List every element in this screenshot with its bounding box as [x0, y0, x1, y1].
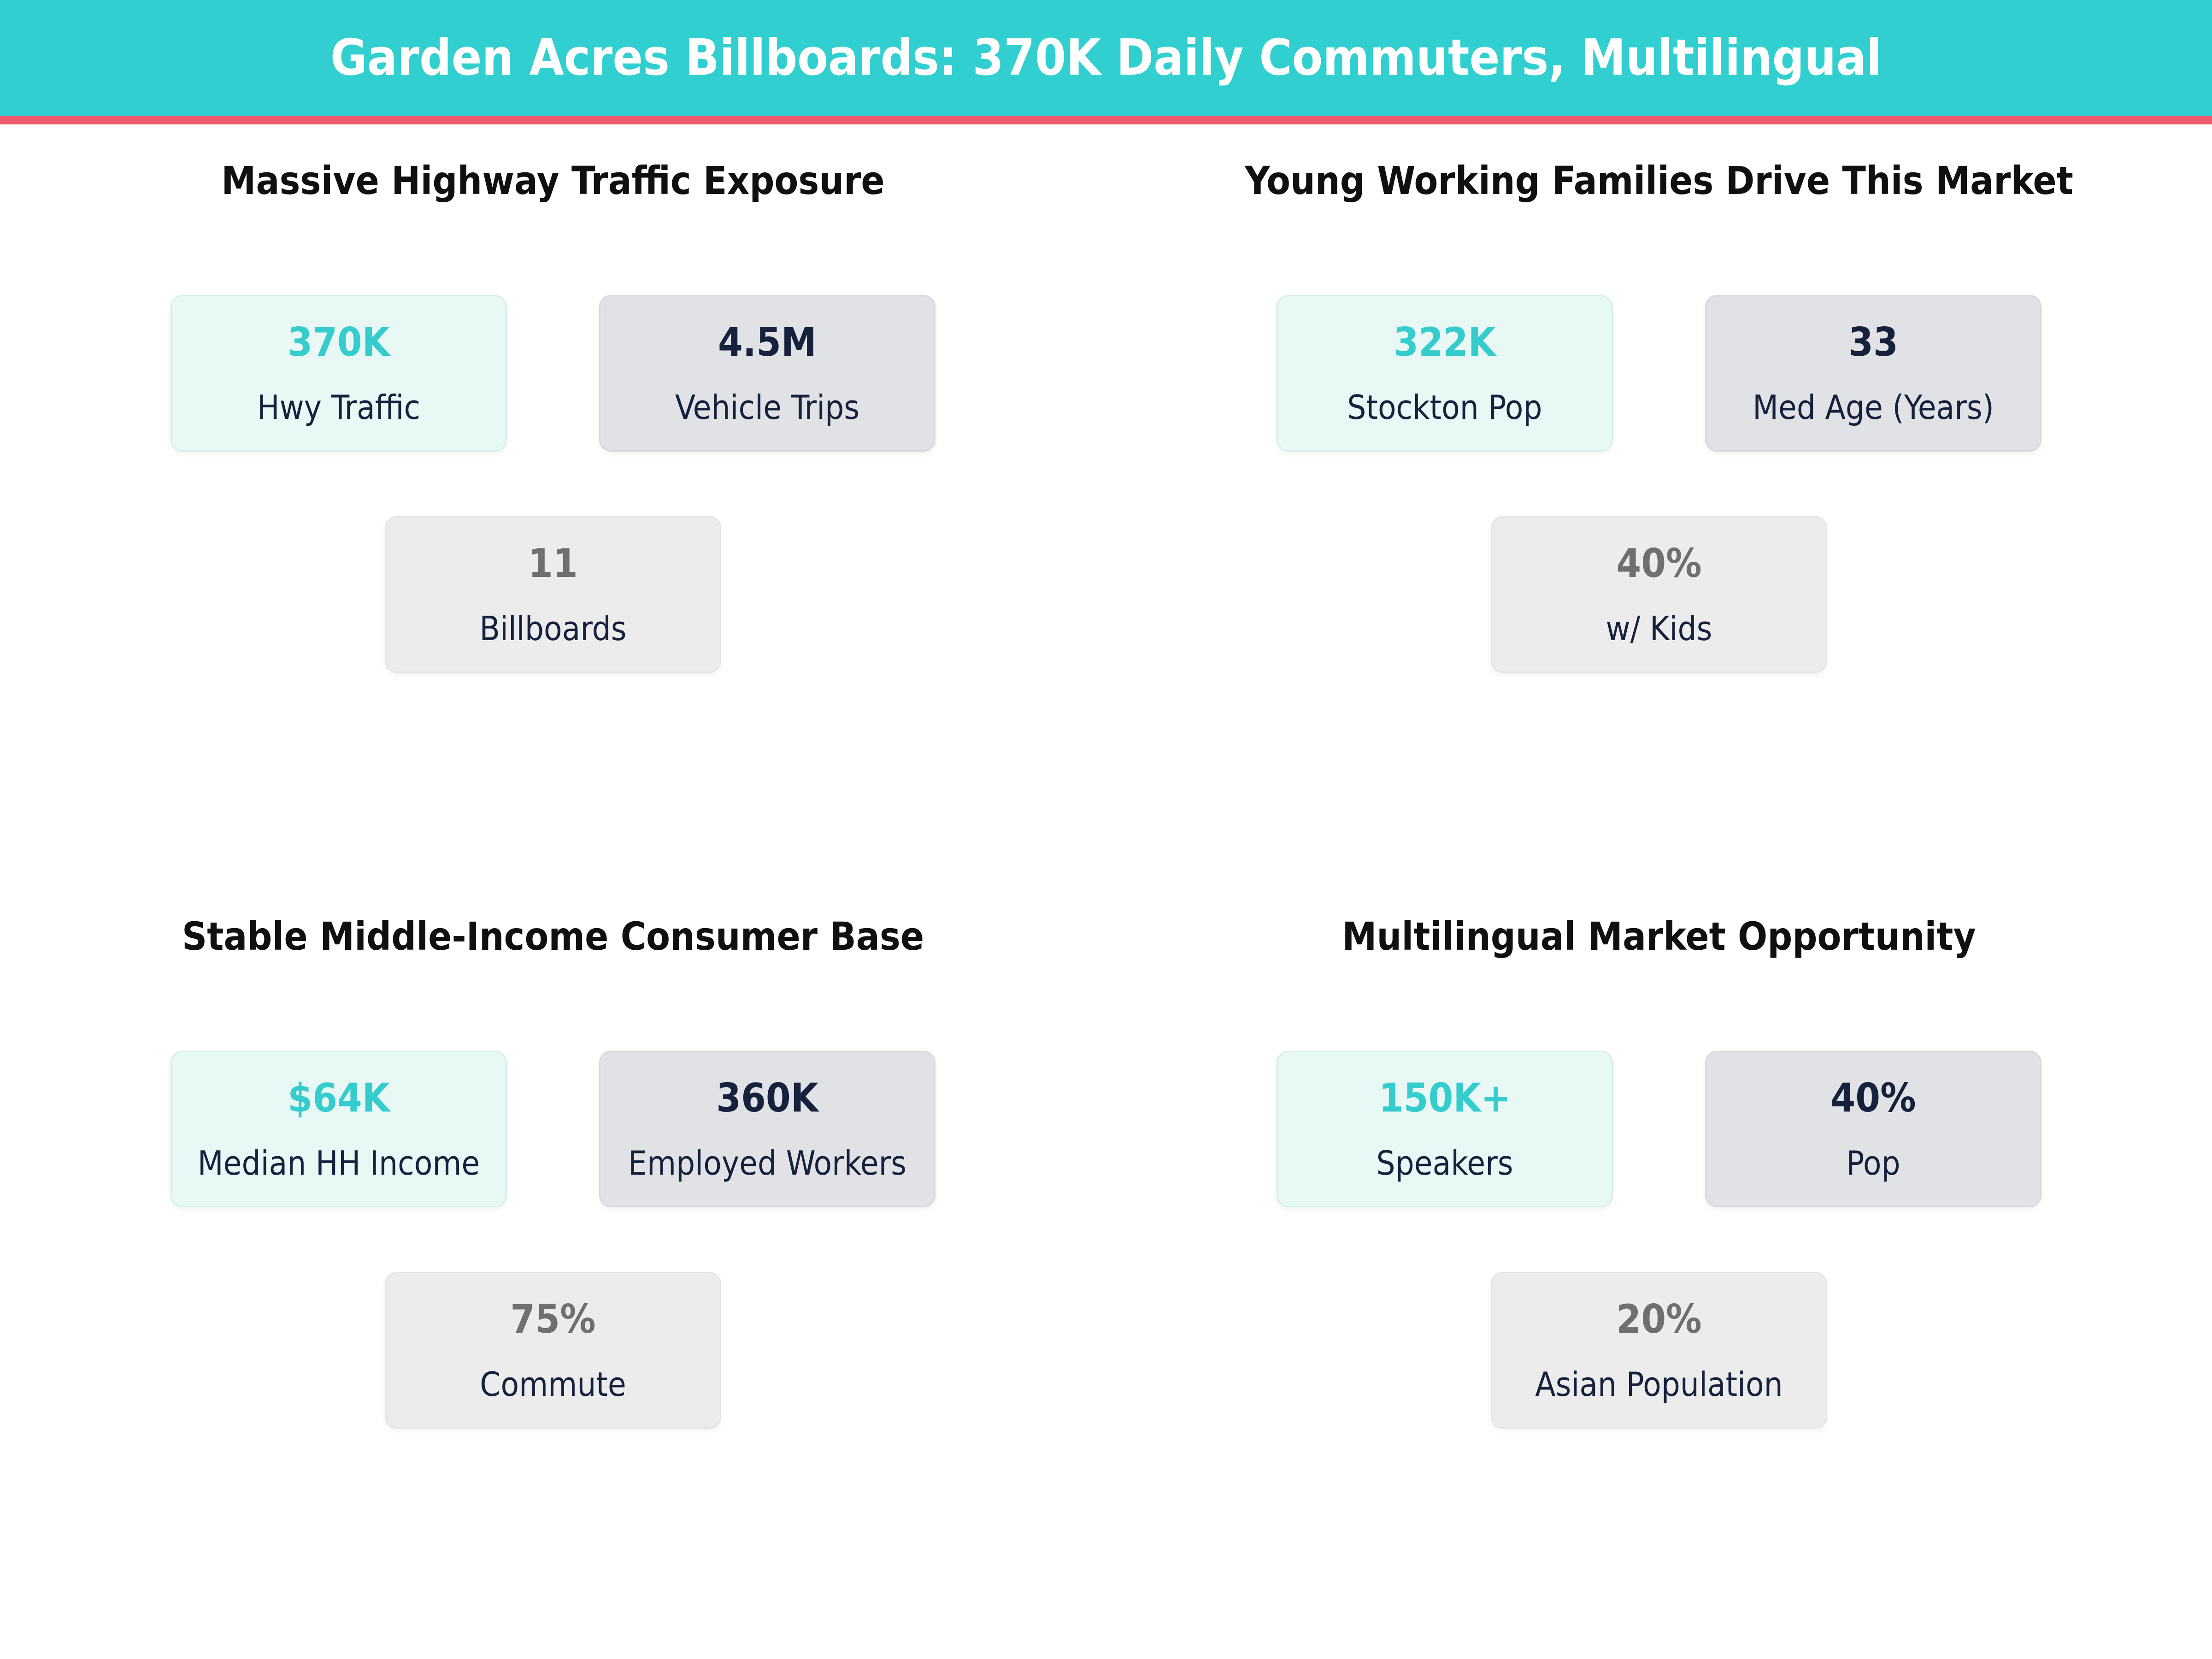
- metric-card[interactable]: 4.5M Vehicle Trips: [599, 295, 935, 452]
- section-title-1: Massive Highway Traffic Exposure: [0, 161, 1106, 200]
- card-row-3b: 75% Commute: [385, 1272, 721, 1429]
- metric-label: Commute: [480, 1368, 626, 1401]
- metric-card[interactable]: 20% Asian Population: [1491, 1272, 1827, 1429]
- metric-value: 11: [528, 544, 578, 583]
- card-rows-1: 370K Hwy Traffic 4.5M Vehicle Trips 11 B…: [0, 295, 1106, 673]
- metric-card[interactable]: 33 Med Age (Years): [1705, 295, 2041, 452]
- card-row-1b: 11 Billboards: [385, 516, 721, 673]
- metric-card[interactable]: 150K+ Speakers: [1277, 1051, 1613, 1207]
- metric-card[interactable]: 360K Employed Workers: [599, 1051, 935, 1207]
- metric-label: w/ Kids: [1606, 612, 1712, 645]
- metric-label: Med Age (Years): [1753, 391, 1994, 424]
- section-panel-4: Multilingual Market Opportunity 150K+ Sp…: [1106, 880, 2212, 1659]
- card-row-4b: 20% Asian Population: [1491, 1272, 1827, 1429]
- metric-label: Pop: [1846, 1147, 1900, 1180]
- metric-value: 322K: [1394, 323, 1495, 362]
- metric-card[interactable]: 11 Billboards: [385, 516, 721, 673]
- section-panel-1: Massive Highway Traffic Exposure 370K Hw…: [0, 124, 1106, 880]
- metric-card[interactable]: 370K Hwy Traffic: [171, 295, 507, 452]
- card-row-1a: 370K Hwy Traffic 4.5M Vehicle Trips: [171, 295, 935, 452]
- section-title-3: Stable Middle-Income Consumer Base: [0, 917, 1106, 956]
- card-row-2b: 40% w/ Kids: [1491, 516, 1827, 673]
- section-panel-2: Young Working Families Drive This Market…: [1106, 124, 2212, 880]
- metric-label: Speakers: [1377, 1147, 1513, 1180]
- metric-label: Asian Population: [1535, 1368, 1783, 1401]
- card-row-2a: 322K Stockton Pop 33 Med Age (Years): [1277, 295, 2041, 452]
- metric-value: 370K: [288, 323, 389, 362]
- metric-value: $64K: [288, 1078, 389, 1118]
- metric-label: Median HH Income: [198, 1147, 480, 1180]
- metric-card[interactable]: $64K Median HH Income: [171, 1051, 507, 1207]
- header-banner: Garden Acres Billboards: 370K Daily Comm…: [0, 0, 2212, 124]
- card-rows-3: $64K Median HH Income 360K Employed Work…: [0, 1051, 1106, 1429]
- metric-label: Employed Workers: [628, 1147, 906, 1180]
- metric-card[interactable]: 322K Stockton Pop: [1277, 295, 1613, 452]
- section-title-2: Young Working Families Drive This Market: [1106, 161, 2212, 200]
- metric-value: 20%: [1616, 1300, 1701, 1339]
- metric-value: 40%: [1830, 1078, 1916, 1118]
- card-rows-2: 322K Stockton Pop 33 Med Age (Years) 40%…: [1106, 295, 2212, 673]
- metric-label: Vehicle Trips: [675, 391, 859, 424]
- metric-card[interactable]: 75% Commute: [385, 1272, 721, 1429]
- section-title-4: Multilingual Market Opportunity: [1106, 917, 2212, 956]
- page-title: Garden Acres Billboards: 370K Daily Comm…: [330, 33, 1882, 83]
- metric-card[interactable]: 40% Pop: [1705, 1051, 2041, 1207]
- metric-value: 33: [1848, 323, 1898, 362]
- section-panel-3: Stable Middle-Income Consumer Base $64K …: [0, 880, 1106, 1659]
- metric-value: 360K: [716, 1078, 818, 1118]
- card-row-4a: 150K+ Speakers 40% Pop: [1277, 1051, 2041, 1207]
- metric-value: 75%: [510, 1300, 595, 1339]
- metric-value: 150K+: [1379, 1078, 1511, 1118]
- metric-card[interactable]: 40% w/ Kids: [1491, 516, 1827, 673]
- card-rows-4: 150K+ Speakers 40% Pop 20% Asian Populat…: [1106, 1051, 2212, 1429]
- metric-label: Hwy Traffic: [257, 391, 420, 424]
- metrics-grid: Massive Highway Traffic Exposure 370K Hw…: [0, 124, 2212, 1659]
- metric-value: 4.5M: [718, 323, 817, 362]
- metric-value: 40%: [1616, 544, 1701, 583]
- metric-label: Stockton Pop: [1347, 391, 1542, 424]
- metric-label: Billboards: [479, 612, 626, 645]
- card-row-3a: $64K Median HH Income 360K Employed Work…: [171, 1051, 935, 1207]
